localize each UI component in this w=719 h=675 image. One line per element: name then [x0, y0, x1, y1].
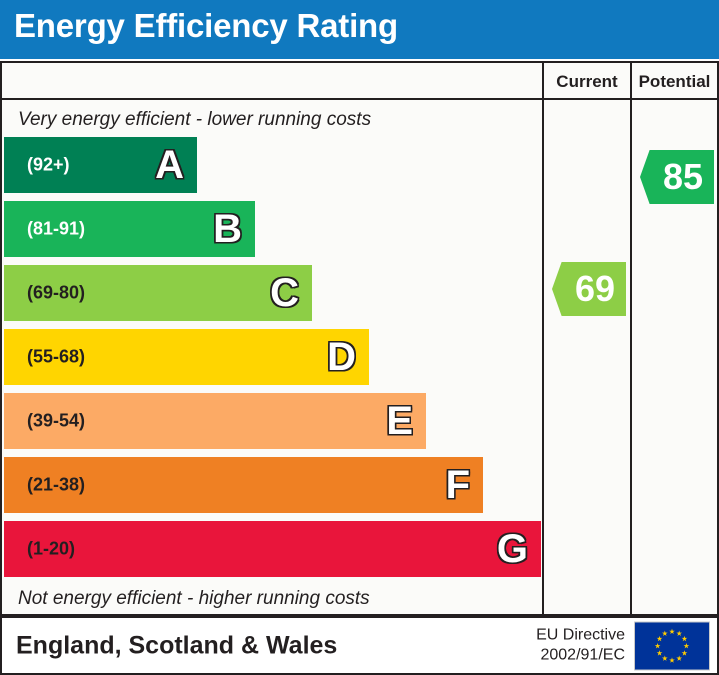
band-range-label: (92+): [27, 155, 70, 176]
footer-directive-line2: 2002/91/EC: [536, 646, 625, 666]
column-divider-potential: [630, 100, 632, 616]
rating-band-f: (21-38)F: [4, 457, 483, 513]
column-header-current: Current: [542, 63, 630, 100]
band-range-label: (39-54): [27, 411, 85, 432]
chart-title-bar: Energy Efficiency Rating: [0, 0, 719, 59]
band-range-label: (69-80): [27, 283, 85, 304]
rating-badge-current: 69: [552, 262, 626, 316]
band-range-label: (21-38): [27, 475, 85, 496]
band-letter-label: F: [446, 465, 470, 505]
energy-efficiency-rating-chart: Energy Efficiency Rating Current Potenti…: [0, 0, 719, 675]
band-letter-label: E: [386, 401, 413, 441]
band-letter-label: D: [327, 337, 356, 377]
eu-flag-icon: [634, 621, 710, 670]
band-letter-label: A: [155, 145, 184, 185]
rating-band-e: (39-54)E: [4, 393, 426, 449]
band-bar-f: (21-38)F: [4, 457, 483, 513]
band-bar-c: (69-80)C: [4, 265, 312, 321]
page-title: Energy Efficiency Rating: [14, 7, 398, 45]
caption-efficient: Very energy efficient - lower running co…: [18, 109, 371, 131]
chart-body: Current Potential Very energy efficient …: [0, 61, 719, 616]
band-bar-a: (92+)A: [4, 137, 197, 193]
column-header-row: Current Potential: [2, 63, 717, 100]
footer-directive-line1: EU Directive: [536, 625, 625, 645]
rating-band-g: (1-20)G: [4, 521, 541, 577]
footer-directive-label: EU Directive 2002/91/EC: [536, 625, 625, 666]
band-bar-b: (81-91)B: [4, 201, 255, 257]
chart-footer: England, Scotland & Wales EU Directive 2…: [0, 616, 719, 675]
caption-inefficient: Not energy efficient - higher running co…: [18, 588, 370, 610]
band-range-label: (55-68): [27, 347, 85, 368]
rating-band-c: (69-80)C: [4, 265, 312, 321]
rating-bands: (92+)A(81-91)B(69-80)C(55-68)D(39-54)E(2…: [4, 137, 540, 585]
rating-band-d: (55-68)D: [4, 329, 369, 385]
band-letter-label: C: [270, 273, 299, 313]
rating-band-b: (81-91)B: [4, 201, 255, 257]
footer-region-label: England, Scotland & Wales: [16, 631, 337, 660]
band-letter-label: B: [213, 209, 242, 249]
band-range-label: (81-91): [27, 219, 85, 240]
rating-badge-potential: 85: [640, 150, 714, 204]
column-header-potential: Potential: [630, 63, 717, 100]
band-bar-d: (55-68)D: [4, 329, 369, 385]
column-divider-current: [542, 100, 544, 616]
band-range-label: (1-20): [27, 539, 75, 560]
rating-band-a: (92+)A: [4, 137, 197, 193]
band-bar-e: (39-54)E: [4, 393, 426, 449]
band-letter-label: G: [497, 529, 528, 569]
band-bar-g: (1-20)G: [4, 521, 541, 577]
